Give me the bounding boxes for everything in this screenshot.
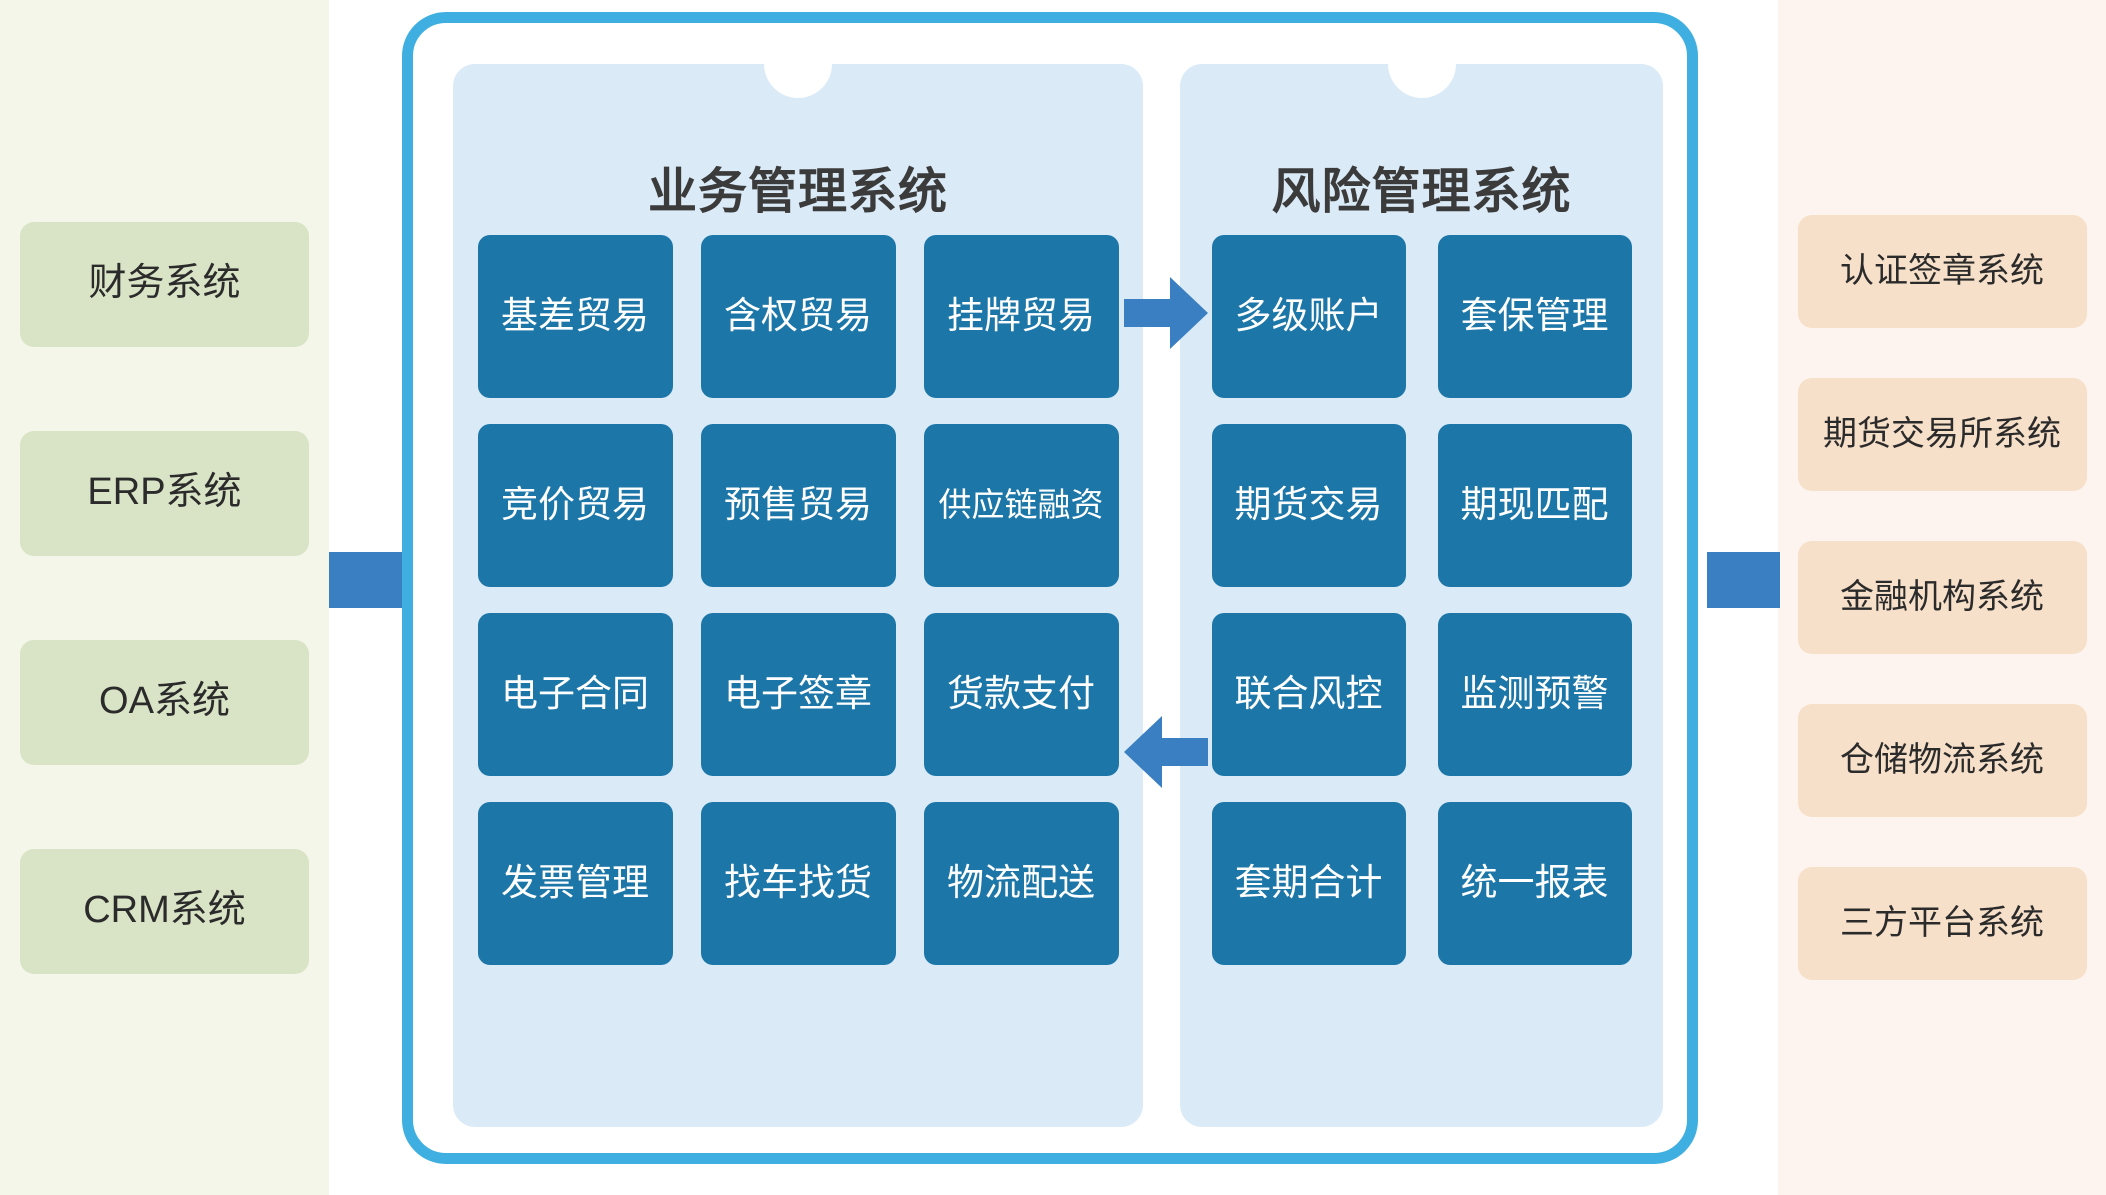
tile-row: 电子合同 电子签章 货款支付: [453, 613, 1143, 776]
left-rail-item-oa[interactable]: OA系统: [20, 640, 309, 765]
tile-multi-level-account[interactable]: 多级账户: [1212, 235, 1406, 398]
panel-notch-icon: [764, 64, 832, 98]
left-rail-item-finance[interactable]: 财务系统: [20, 222, 309, 347]
tile-joint-risk-control[interactable]: 联合风控: [1212, 613, 1406, 776]
tile-row: 竞价贸易 预售贸易 供应链融资: [453, 424, 1143, 587]
tile-row: 联合风控 监测预警: [1180, 613, 1663, 776]
tile-bidding-trade[interactable]: 竞价贸易: [478, 424, 673, 587]
tile-label: 期货交易: [1235, 486, 1383, 525]
connector-left-rail: [329, 552, 402, 608]
arrow-right-icon: [1124, 277, 1208, 349]
right-systems-rail: 认证签章系统 期货交易所系统 金融机构系统 仓储物流系统 三方平台系统: [1778, 0, 2106, 1195]
tile-label: 发票管理: [501, 864, 649, 903]
left-rail-item-erp[interactable]: ERP系统: [20, 431, 309, 556]
tile-hedging-management[interactable]: 套保管理: [1438, 235, 1632, 398]
tile-label: 多级账户: [1235, 297, 1383, 336]
right-rail-item-certification[interactable]: 认证签章系统: [1798, 215, 2087, 328]
right-rail-item-financial-institution[interactable]: 金融机构系统: [1798, 541, 2087, 654]
tile-listed-trade[interactable]: 挂牌贸易: [924, 235, 1119, 398]
risk-tile-grid: 多级账户 套保管理 期货交易 期现匹配 联合风控: [1180, 235, 1663, 991]
tile-hedge-aggregation[interactable]: 套期合计: [1212, 802, 1406, 965]
tile-label: 货款支付: [947, 675, 1095, 714]
tile-option-embedded-trade[interactable]: 含权贸易: [701, 235, 896, 398]
tile-label: 找车找货: [724, 864, 872, 903]
diagram-canvas: 财务系统 ERP系统 OA系统 CRM系统 认证签章系统 期货交易所系统 金融机…: [0, 0, 2106, 1195]
tile-label: 供应链融资: [939, 488, 1104, 523]
right-rail-item-futures-exchange[interactable]: 期货交易所系统: [1798, 378, 2087, 491]
business-tile-grid: 基差贸易 含权贸易 挂牌贸易 竞价贸易 预售贸易: [453, 235, 1143, 991]
tile-monitoring-alert[interactable]: 监测预警: [1438, 613, 1632, 776]
connector-right-rail: [1707, 552, 1780, 608]
left-systems-rail: 财务系统 ERP系统 OA系统 CRM系统: [0, 0, 329, 1195]
tile-label: 联合风控: [1235, 675, 1383, 714]
tile-label: 基差贸易: [501, 297, 649, 336]
left-rail-item-crm[interactable]: CRM系统: [20, 849, 309, 974]
tile-label: 电子合同: [501, 675, 649, 714]
arrow-left-icon: [1124, 716, 1208, 788]
tile-futures-spot-matching[interactable]: 期现匹配: [1438, 424, 1632, 587]
right-rail-item-label: 期货交易所系统: [1823, 416, 2061, 453]
tile-basis-trade[interactable]: 基差贸易: [478, 235, 673, 398]
tile-label: 统一报表: [1461, 864, 1609, 903]
tile-label: 套保管理: [1461, 297, 1609, 336]
tile-row: 套期合计 统一报表: [1180, 802, 1663, 965]
tile-supply-chain-finance[interactable]: 供应链融资: [924, 424, 1119, 587]
tile-label: 含权贸易: [724, 297, 872, 336]
right-rail-item-warehouse-logistics[interactable]: 仓储物流系统: [1798, 704, 2087, 817]
tile-label: 挂牌贸易: [947, 297, 1095, 336]
left-rail-item-label: 财务系统: [88, 263, 240, 305]
tile-label: 套期合计: [1235, 864, 1383, 903]
business-panel-title: 业务管理系统: [453, 152, 1143, 223]
tile-label: 预售贸易: [724, 486, 872, 525]
tile-row: 期货交易 期现匹配: [1180, 424, 1663, 587]
tile-electronic-contract[interactable]: 电子合同: [478, 613, 673, 776]
right-rail-item-label: 认证签章系统: [1840, 253, 2044, 290]
panel-notch-icon: [1388, 64, 1456, 98]
platform-frame: 业务管理系统 基差贸易 含权贸易 挂牌贸易 竞价贸易: [402, 12, 1698, 1164]
tile-invoice-management[interactable]: 发票管理: [478, 802, 673, 965]
right-rail-item-third-party-platform[interactable]: 三方平台系统: [1798, 867, 2087, 980]
left-rail-item-label: CRM系统: [83, 890, 246, 932]
right-rail-item-label: 三方平台系统: [1840, 905, 2044, 942]
business-management-panel: 业务管理系统 基差贸易 含权贸易 挂牌贸易 竞价贸易: [453, 64, 1143, 1127]
tile-electronic-signature[interactable]: 电子签章: [701, 613, 896, 776]
tile-presale-trade[interactable]: 预售贸易: [701, 424, 896, 587]
tile-logistics-delivery[interactable]: 物流配送: [924, 802, 1119, 965]
tile-row: 基差贸易 含权贸易 挂牌贸易: [453, 235, 1143, 398]
tile-label: 期现匹配: [1461, 486, 1609, 525]
tile-futures-trading[interactable]: 期货交易: [1212, 424, 1406, 587]
tile-label: 物流配送: [947, 864, 1095, 903]
tile-row: 发票管理 找车找货 物流配送: [453, 802, 1143, 965]
tile-label: 监测预警: [1461, 675, 1609, 714]
left-rail-item-label: ERP系统: [87, 472, 241, 514]
tile-payment[interactable]: 货款支付: [924, 613, 1119, 776]
tile-find-truck-find-cargo[interactable]: 找车找货: [701, 802, 896, 965]
tile-unified-report[interactable]: 统一报表: [1438, 802, 1632, 965]
right-rail-item-label: 仓储物流系统: [1840, 742, 2044, 779]
risk-panel-title: 风险管理系统: [1180, 152, 1663, 223]
tile-label: 竞价贸易: [501, 486, 649, 525]
tile-label: 电子签章: [724, 675, 872, 714]
right-rail-item-label: 金融机构系统: [1840, 579, 2044, 616]
left-rail-item-label: OA系统: [99, 681, 230, 723]
tile-row: 多级账户 套保管理: [1180, 235, 1663, 398]
risk-management-panel: 风险管理系统 多级账户 套保管理 期货交易 期现匹配: [1180, 64, 1663, 1127]
